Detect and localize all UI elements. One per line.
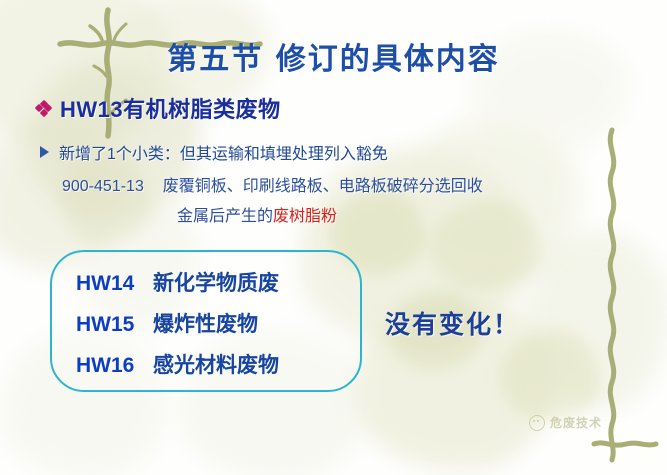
slide-canvas: 第五节 修订的具体内容 HW13有机树脂类废物 新增了1个小类：但其运输和填埋处… [0,0,667,475]
waste-code-highlight: 废树脂粉 [273,208,337,225]
hw-item-code: HW16 [76,354,134,377]
hw-item-name: 爆炸性废物 [153,313,258,336]
slide-title: 第五节 修订的具体内容 [0,34,667,78]
waste-code-description-1: 废覆铜板、印刷线路板、电路板破碎分选回收 [163,178,483,195]
section-heading-row: HW13有机树脂类废物 [36,92,281,124]
diamond-cluster-bullet-icon [36,101,51,116]
hw-item-code: HW15 [76,313,134,336]
round-face-icon [529,415,545,431]
hw-item-name: 感光材料废物 [153,354,279,377]
no-change-note: 没有变化！ [385,305,520,341]
waste-code-number: 900-451-13 [62,178,144,195]
hw-group-list: HW14 新化学物质废 HW15 爆炸性废物 HW16 感光材料废物 [76,263,279,386]
section-heading-label: HW13有机树脂类废物 [60,92,281,124]
waste-code-entry: 900-451-13 废覆铜板、印刷线路板、电路板破碎分选回收 金属后产生的废树… [62,172,542,232]
list-item: HW14 新化学物质废 [76,263,279,304]
waste-code-line-1: 900-451-13 废覆铜板、印刷线路板、电路板破碎分选回收 [62,172,542,202]
hw-item-name: 新化学物质废 [153,272,279,295]
arrow-right-bullet-icon [40,146,49,158]
sub-bullet-row: 新增了1个小类：但其运输和填埋处理列入豁免 [40,140,388,164]
waste-code-description-2: 金属后产生的 [177,208,273,225]
list-item: HW15 爆炸性废物 [76,304,279,345]
bamboo-stem-right-icon [592,126,664,466]
watermark: 危废技术 [529,414,602,431]
sub-bullet-label: 新增了1个小类：但其运输和填埋处理列入豁免 [59,140,388,164]
watermark-label: 危废技术 [550,414,602,431]
hw-item-code: HW14 [76,272,134,295]
waste-code-line-2: 金属后产生的废树脂粉 [62,202,542,232]
list-item: HW16 感光材料废物 [76,345,279,386]
